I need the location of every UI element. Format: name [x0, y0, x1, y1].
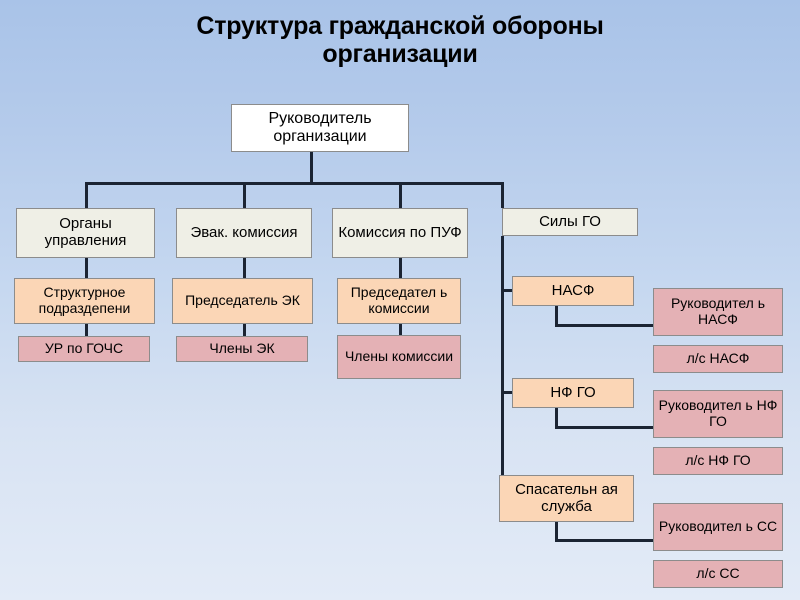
node-nasf-label: НАСФ	[552, 283, 595, 300]
node-predsek-label: Председатель ЭК	[185, 293, 300, 309]
node-chleny-komissii[interactable]: Члены комиссии	[337, 335, 461, 379]
node-organy-upravleniya[interactable]: Органы управления	[16, 208, 155, 258]
connector-evak-to-predsek	[243, 258, 246, 278]
connector-organy-to-strukt	[85, 258, 88, 278]
node-chlenykom-label: Члены комиссии	[345, 349, 453, 365]
node-lsnasf-label: л/с НАСФ	[687, 351, 750, 367]
connector-root-stem	[310, 152, 313, 184]
connector-main-bus	[85, 182, 504, 185]
node-komissiya-po-puf[interactable]: Комиссия по ПУФ	[332, 208, 468, 258]
node-sily-label: Силы ГО	[539, 214, 601, 231]
connector-spas-to-ruk	[555, 539, 653, 542]
node-spas-label: Спасательн ая служба	[504, 482, 629, 516]
connector-bus-to-evak	[243, 182, 246, 208]
node-ls-ss[interactable]: л/с СС	[653, 560, 783, 588]
node-puf-label: Комиссия по ПУФ	[338, 225, 461, 242]
node-evak-komissiya[interactable]: Эвак. комиссия	[176, 208, 312, 258]
node-chlenyek-label: Члены ЭК	[209, 341, 274, 357]
node-rukss-label: Руководител ь СС	[659, 519, 777, 535]
connector-sily-trunk	[501, 236, 504, 486]
node-root[interactable]: Руководитель организации	[231, 104, 409, 152]
node-strukturnoe-podrazdelenie[interactable]: Структурное подраздепени	[14, 278, 155, 324]
connector-nasf-to-ruk	[555, 324, 653, 327]
connector-puf-to-predskom	[399, 258, 402, 278]
node-ls-nf-go[interactable]: л/с НФ ГО	[653, 447, 783, 475]
node-predskom-label: Председател ь комиссии	[342, 285, 456, 316]
node-nf-go[interactable]: НФ ГО	[512, 378, 634, 408]
node-ruknasf-label: Руководител ь НАСФ	[658, 296, 778, 327]
node-strukt-label: Структурное подраздепени	[19, 285, 150, 316]
node-rukovoditel-nf-go[interactable]: Руководител ь НФ ГО	[653, 390, 783, 438]
node-predsedatel-komissii[interactable]: Председател ь комиссии	[337, 278, 461, 324]
node-lsnfgo-label: л/с НФ ГО	[685, 453, 750, 469]
node-nasf[interactable]: НАСФ	[512, 276, 634, 306]
page-title: Структура гражданской обороны организаци…	[180, 12, 620, 68]
connector-nfgo-to-ruk	[555, 426, 653, 429]
node-ur-po-gochs[interactable]: УР по ГОЧС	[18, 336, 150, 362]
connector-bus-to-sily	[501, 182, 504, 208]
node-sily-go[interactable]: Силы ГО	[502, 208, 638, 236]
node-urgochs-label: УР по ГОЧС	[45, 341, 123, 357]
node-root-label: Руководитель организации	[236, 110, 404, 146]
node-rukovoditel-ss[interactable]: Руководител ь СС	[653, 503, 783, 551]
node-lsss-label: л/с СС	[696, 566, 739, 582]
node-rukovoditel-nasf[interactable]: Руководител ь НАСФ	[653, 288, 783, 336]
node-predsedatel-ek[interactable]: Председатель ЭК	[172, 278, 313, 324]
slide-canvas: Структура гражданской обороны организаци…	[0, 0, 800, 600]
node-organy-label: Органы управления	[21, 216, 150, 250]
node-evak-label: Эвак. комиссия	[190, 225, 297, 242]
connector-strukt-to-urgochs	[85, 324, 88, 336]
node-chleny-ek[interactable]: Члены ЭК	[176, 336, 308, 362]
node-nfgo-label: НФ ГО	[550, 385, 595, 402]
node-ruknfgo-label: Руководител ь НФ ГО	[658, 398, 778, 429]
connector-predsek-to-chlenyek	[243, 324, 246, 336]
node-spasatelnaya-sluzhba[interactable]: Спасательн ая служба	[499, 475, 634, 522]
connector-bus-to-organy	[85, 182, 88, 208]
connector-bus-to-puf	[399, 182, 402, 208]
node-ls-nasf[interactable]: л/с НАСФ	[653, 345, 783, 373]
